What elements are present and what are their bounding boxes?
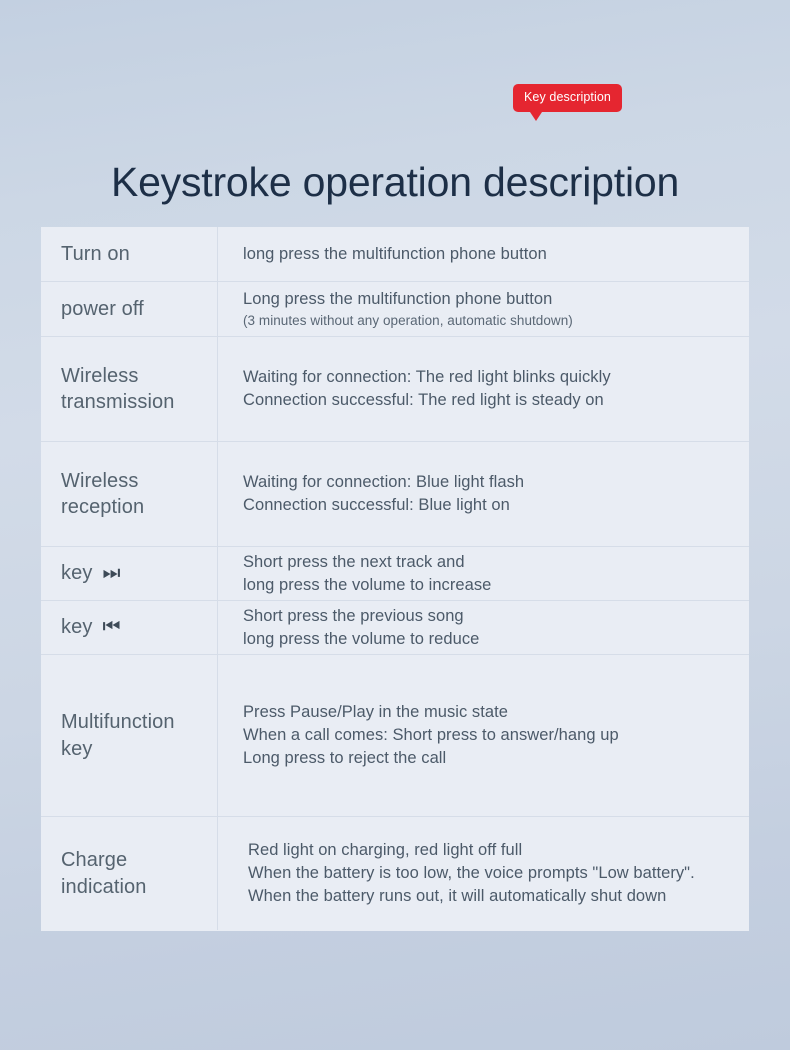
key-description-badge: Key description [513,84,622,112]
table-row: key ⏮ Short press the previous song long… [41,601,749,655]
description-line: long press the volume to increase [243,574,735,597]
row-label-cell: key ⏭ [41,547,217,600]
description-line: When a call comes: Short press to answer… [243,724,735,747]
table-row: key ⏭ Short press the next track and lon… [41,547,749,601]
description-line: Waiting for connection: Blue light flash [243,471,735,494]
row-description-cell: Waiting for connection: The red light bl… [218,337,749,441]
description-subline: (3 minutes without any operation, automa… [243,311,735,331]
row-label-cell: Wireless transmission [41,337,217,441]
previous-track-icon: ⏮ [102,617,119,637]
description-line: When the battery runs out, it will autom… [248,885,735,908]
row-label-text: Wireless transmission [61,363,209,416]
row-description-cell: long press the multifunction phone butto… [218,227,749,281]
row-label-text: Wireless reception [61,468,209,521]
description-line: When the battery is too low, the voice p… [248,862,735,885]
row-label-cell: Wireless reception [41,442,217,546]
description-line: Waiting for connection: The red light bl… [243,366,735,389]
description-line: Short press the next track and [243,551,735,574]
row-description-cell: Long press the multifunction phone butto… [218,282,749,336]
description-line: Red light on charging, red light off ful… [248,839,735,862]
row-label-cell: power off [41,282,217,336]
row-description-cell: Waiting for connection: Blue light flash… [218,442,749,546]
row-description-cell: Short press the previous song long press… [218,601,749,654]
table-row: Multifunction key Press Pause/Play in th… [41,655,749,817]
description-line: Press Pause/Play in the music state [243,701,735,724]
description-line: Connection successful: The red light is … [243,389,735,412]
description-line: long press the multifunction phone butto… [243,243,735,266]
table-row: Turn on long press the multifunction pho… [41,227,749,282]
row-description-cell: Short press the next track and long pres… [218,547,749,600]
row-label-text: key [61,614,92,640]
description-line: Long press the multifunction phone butto… [243,288,735,311]
row-label-cell: key ⏮ [41,601,217,654]
row-label-text: power off [61,296,144,322]
description-line: long press the volume to reduce [243,628,735,651]
page-title: Keystroke operation description [0,160,790,205]
row-label-cell: Multifunction key [41,655,217,816]
table-row: Charge indication Red light on charging,… [41,817,749,930]
keystroke-operation-table: Turn on long press the multifunction pho… [41,227,749,931]
row-label-cell: Charge indication [41,817,217,930]
triangle-down-icon [528,109,544,121]
row-label-cell: Turn on [41,227,217,281]
table-row: power off Long press the multifunction p… [41,282,749,337]
description-line: Connection successful: Blue light on [243,494,735,517]
table-row: Wireless transmission Waiting for connec… [41,337,749,442]
keystroke-operation-card: Turn on long press the multifunction pho… [41,227,749,931]
row-label-text: Charge indication [61,847,209,900]
row-label-text: Multifunction key [61,709,209,762]
description-line: Long press to reject the call [243,747,735,770]
key-description-badge-label: Key description [513,84,622,112]
row-label-text: key [61,560,92,586]
row-description-cell: Press Pause/Play in the music state When… [218,655,749,816]
description-line: Short press the previous song [243,605,735,628]
next-track-icon: ⏭ [102,563,119,583]
row-label-text: Turn on [61,241,130,267]
table-row: Wireless reception Waiting for connectio… [41,442,749,547]
row-description-cell: Red light on charging, red light off ful… [218,817,749,930]
